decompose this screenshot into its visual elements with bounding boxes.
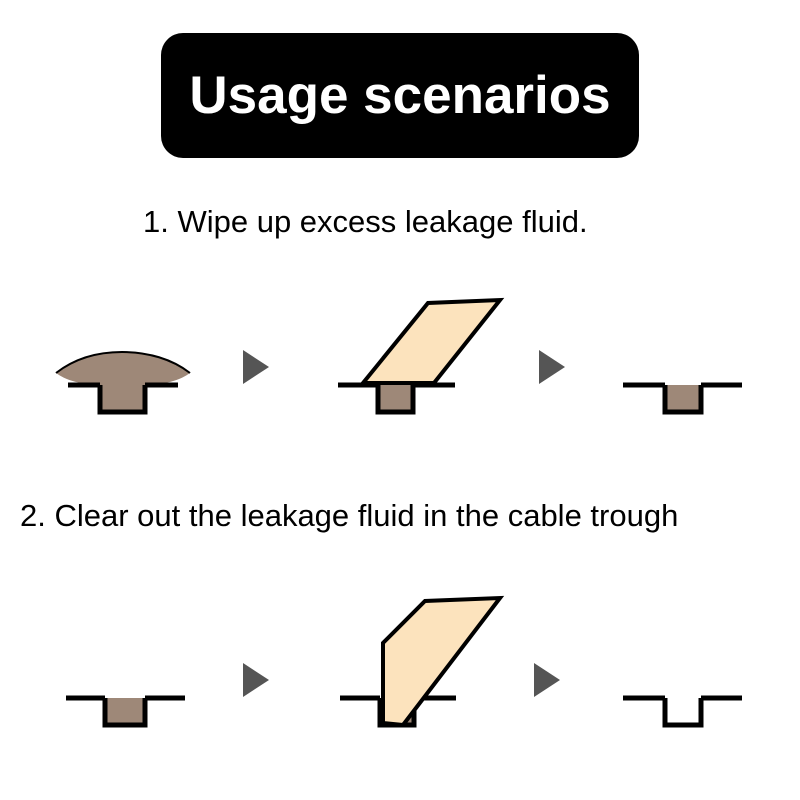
figure-overfilled-trough (56, 352, 190, 412)
arrow-right-icon-1 (243, 663, 269, 697)
arrow-right-icon-2 (539, 350, 565, 384)
step-2-figure-row (0, 585, 800, 750)
figure-empty-trough (623, 698, 742, 725)
step-1-caption: 1. Wipe up excess leakage fluid. (143, 206, 588, 237)
step-2-caption: 2. Clear out the leakage fluid in the ca… (20, 500, 678, 531)
usage-scenarios-infographic: Usage scenarios 1. Wipe up excess leakag… (0, 0, 800, 800)
page-title: Usage scenarios (189, 69, 610, 122)
leakage-fluid-level (665, 385, 701, 412)
title-banner: Usage scenarios (161, 33, 639, 158)
leakage-fluid-level (105, 698, 145, 725)
step-1-diagram (0, 280, 800, 440)
figure-wiping-with-cloth (338, 300, 500, 412)
figure-level-filled-trough (66, 698, 185, 725)
leakage-fluid-level (378, 385, 413, 412)
cable-trough-outline (665, 698, 701, 725)
arrow-right-icon-1 (243, 350, 269, 384)
figure-level-filled-trough (623, 385, 742, 412)
figure-cloth-inserted-in-trough (340, 598, 500, 725)
cleaning-cloth (383, 598, 500, 725)
wiping-cloth (363, 300, 500, 383)
step-2-diagram (0, 585, 800, 750)
step-1-figure-row (0, 280, 800, 440)
arrow-right-icon-2 (534, 663, 560, 697)
